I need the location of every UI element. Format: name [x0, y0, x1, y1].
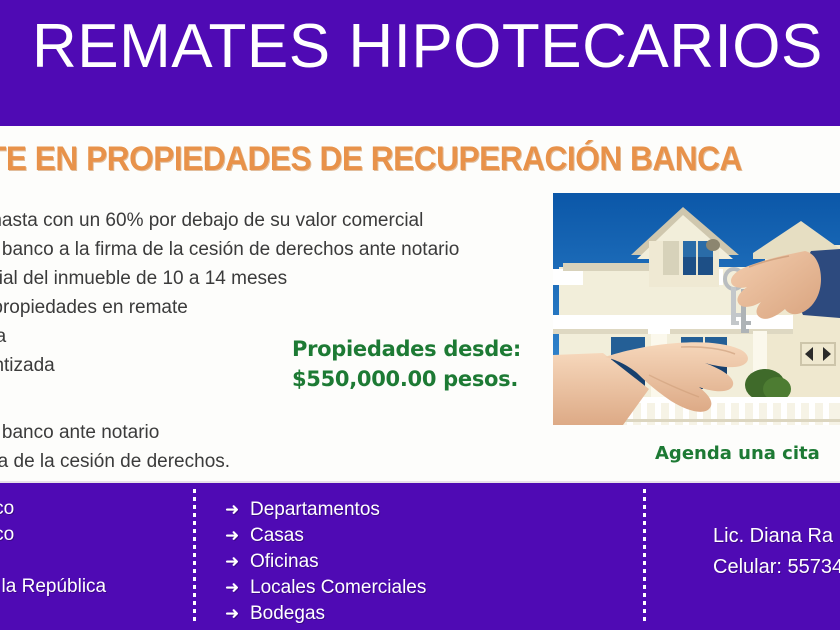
price-callout: Propiedades desde: $550,000.00 pesos. [292, 334, 521, 394]
benefit-line: aterial del inmueble de 10 a 14 meses [0, 264, 526, 293]
process-list: o al banco ante notario firma de la cesi… [0, 418, 526, 476]
house-keys-photo [553, 193, 840, 425]
benefit-line: es hasta con un 60% por debajo de su val… [0, 206, 526, 235]
locations-spacer [0, 548, 184, 574]
price-callout-label: Propiedades desde: [292, 334, 521, 364]
property-type-label: Bodegas [250, 601, 325, 626]
property-type-label: Oficinas [250, 549, 319, 574]
agenda-cita-cta[interactable]: Agenda una cita [655, 443, 820, 464]
arrow-bullet-icon: ➜ [225, 550, 250, 575]
benefit-line: 00 propiedades en remate [0, 293, 526, 322]
location-item: México [0, 496, 184, 522]
process-line: firma de la cesión de derechos. [0, 447, 526, 476]
property-type-item: ➜ Departamentos [225, 497, 585, 523]
property-type-item: ➜ Casas [225, 523, 585, 549]
location-item: te de la República [0, 574, 184, 600]
arrow-bullet-icon: ➜ [225, 602, 250, 627]
arrow-bullet-icon: ➜ [225, 498, 250, 523]
subheadline: ERTE EN PROPIEDADES DE RECUPERACIÓN BANC… [0, 140, 840, 179]
benefit-line: o al banco a la firma de la cesión de de… [0, 235, 526, 264]
process-line: o al banco ante notario [0, 418, 526, 447]
locations-column: México México te de la República [0, 496, 184, 600]
poster-remates-hipotecarios: REMATES HIPOTECARIOS ERTE EN PROPIEDADES… [0, 0, 840, 630]
footer-divider-right [643, 489, 646, 621]
house-keys-illustration [553, 193, 840, 425]
property-types-column: ➜ Departamentos ➜ Casas ➜ Oficinas ➜ Loc… [225, 497, 585, 627]
arrow-bullet-icon: ➜ [225, 576, 250, 601]
property-type-label: Departamentos [250, 497, 380, 522]
contact-block: Lic. Diana Ra Celular: 55734 [713, 521, 840, 583]
property-type-item: ➜ Locales Comerciales [225, 575, 585, 601]
header-band: REMATES HIPOTECARIOS [0, 0, 840, 126]
property-type-item: ➜ Bodegas [225, 601, 585, 627]
arrow-bullet-icon: ➜ [225, 524, 250, 549]
price-callout-amount: $550,000.00 pesos. [292, 364, 521, 394]
property-type-item: ➜ Oficinas [225, 549, 585, 575]
property-type-label: Casas [250, 523, 304, 548]
location-item: México [0, 522, 184, 548]
footer-divider-left [193, 489, 196, 621]
page-title: REMATES HIPOTECARIOS [32, 16, 823, 78]
property-type-label: Locales Comerciales [250, 575, 426, 600]
contact-phone: Celular: 55734 [713, 552, 840, 583]
contact-name: Lic. Diana Ra [713, 521, 840, 552]
